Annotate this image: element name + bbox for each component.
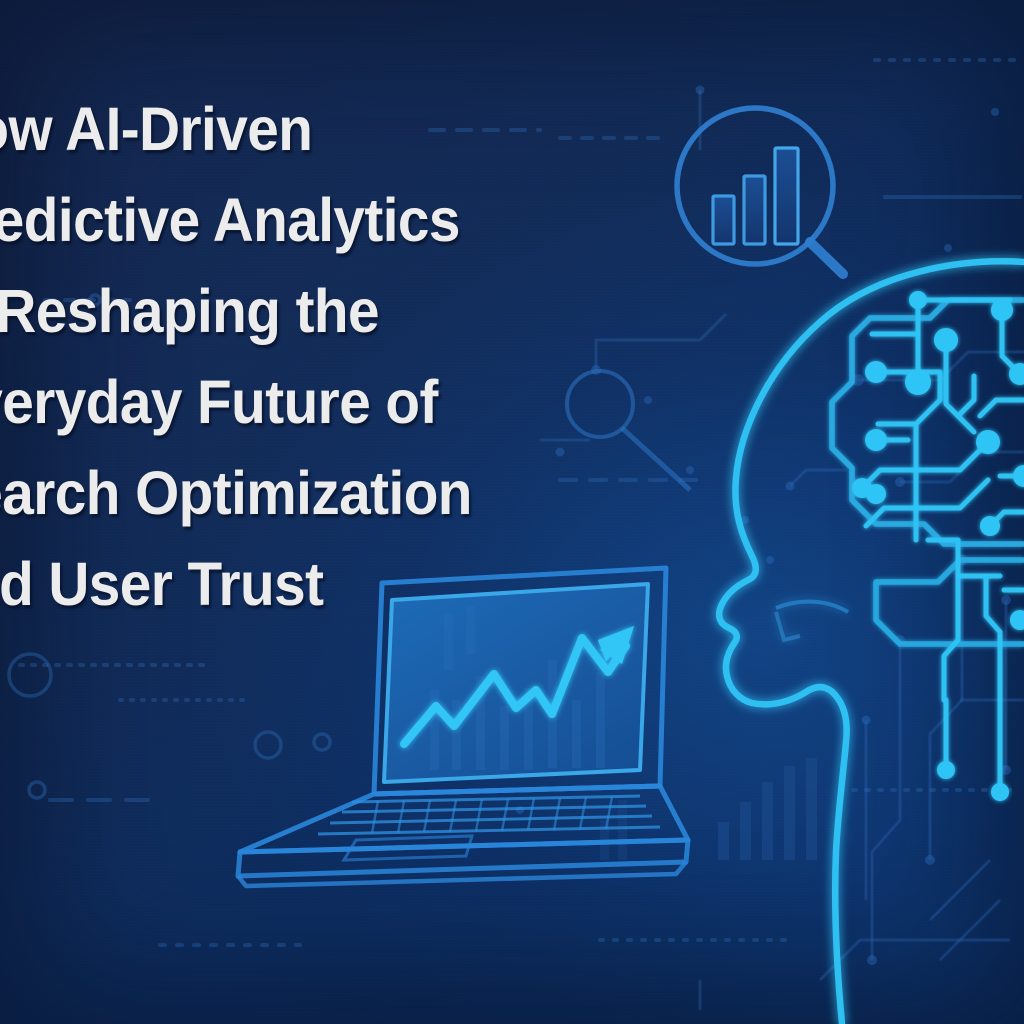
title-line-2: Predictive Analytics bbox=[0, 175, 566, 266]
laptop-base bbox=[238, 786, 688, 886]
title-line-3: Is Reshaping the bbox=[0, 266, 566, 357]
hero-banner: How AI-Driven Predictive Analytics Is Re… bbox=[0, 0, 1024, 1024]
title-line-1: How AI-Driven bbox=[0, 84, 566, 175]
title-line-6: and User Trust bbox=[0, 539, 566, 630]
page-title: How AI-Driven Predictive Analytics Is Re… bbox=[0, 84, 614, 630]
title-line-5: Search Optimization bbox=[0, 448, 566, 539]
title-line-4: Everyday Future of bbox=[0, 357, 566, 448]
